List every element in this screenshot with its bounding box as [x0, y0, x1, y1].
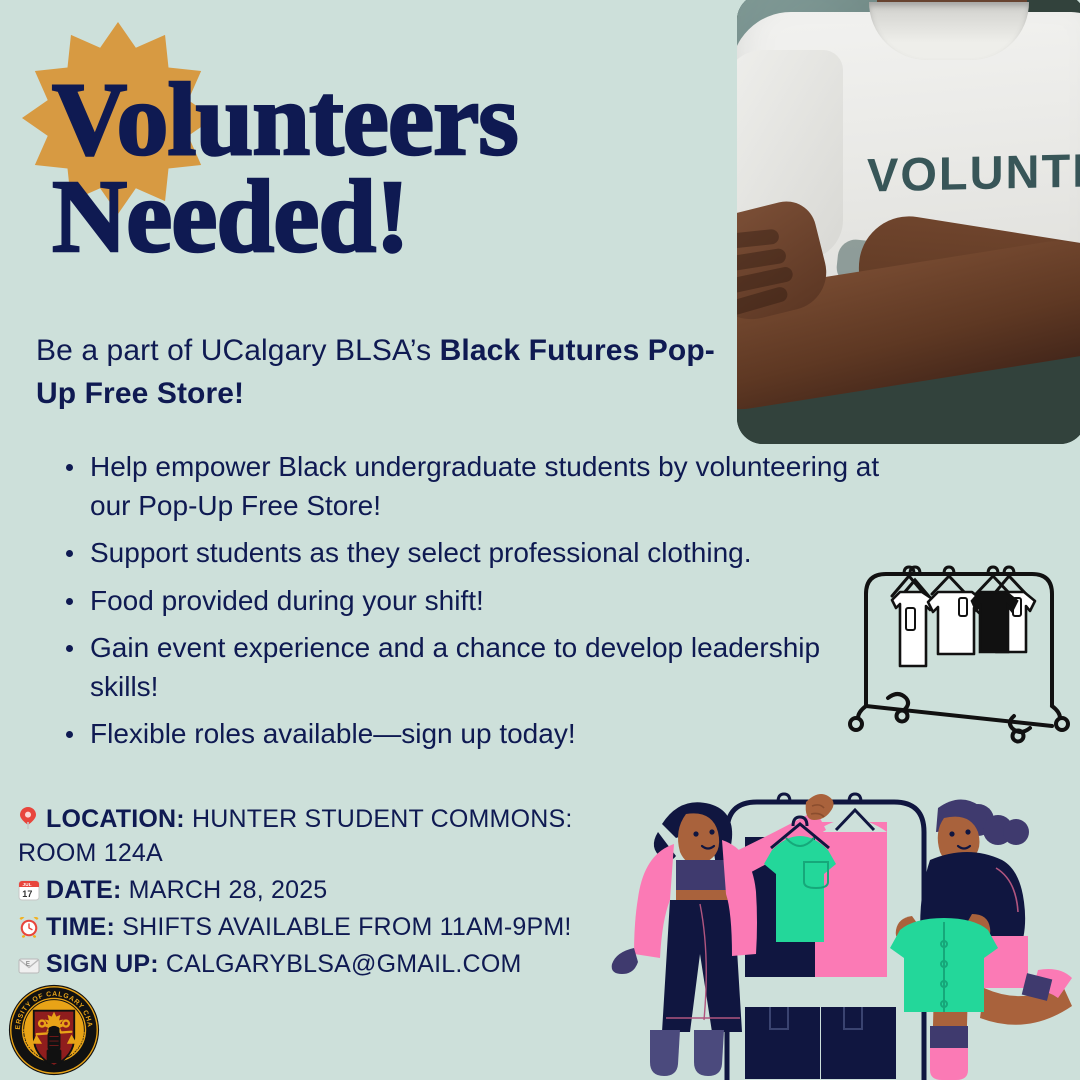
poster-canvas: VOLUNTEER Volunteers Needed! Be a part o…	[0, 0, 1080, 1080]
svg-text:JUL: JUL	[23, 882, 32, 887]
detail-label: DATE:	[46, 876, 122, 904]
location-pin-icon	[18, 806, 44, 830]
clothing-rack-icon	[848, 548, 1070, 748]
list-item: Gain event experience and a chance to de…	[62, 628, 892, 706]
list-item: Help empower Black undergraduate student…	[62, 447, 892, 525]
detail-time: TIME: SHIFTS AVAILABLE FROM 11AM-9PM!	[18, 910, 578, 944]
detail-signup: E SIGN UP: CALGARYBLSA@GMAIL.COM	[18, 947, 578, 981]
alarm-clock-icon	[18, 916, 44, 938]
list-item: Support students as they select professi…	[62, 533, 892, 572]
list-item: Flexible roles available—sign up today!	[62, 714, 892, 753]
subtitle-lead: Be a part of UCalgary BLSA’s	[36, 334, 440, 367]
benefits-list: Help empower Black undergraduate student…	[62, 447, 892, 761]
event-details: LOCATION: HUNTER STUDENT COMMONS: ROOM 1…	[18, 802, 578, 984]
detail-label: SIGN UP:	[46, 950, 159, 978]
list-item: Food provided during your shift!	[62, 581, 892, 620]
detail-label: TIME:	[46, 913, 115, 941]
page-title: Volunteers Needed!	[52, 72, 712, 265]
title-line-2: Needed!	[52, 169, 712, 266]
svg-text:17: 17	[22, 889, 32, 899]
detail-location: LOCATION: HUNTER STUDENT COMMONS: ROOM 1…	[18, 802, 578, 870]
envelope-icon: E	[18, 957, 44, 975]
detail-label: LOCATION:	[46, 805, 185, 833]
photo-shirt-text: VOLUNTEER	[867, 141, 1080, 203]
detail-value: MARCH 28, 2025	[122, 876, 328, 904]
detail-value: SHIFTS AVAILABLE FROM 11AM-9PM!	[115, 913, 572, 941]
detail-date: JUL 17 DATE: MARCH 28, 2025	[18, 873, 578, 907]
pop-up-free-store-illustration	[600, 772, 1080, 1080]
detail-value: CALGARYBLSA@GMAIL.COM	[159, 950, 522, 978]
volunteer-photo: VOLUNTEER	[737, 0, 1080, 444]
blsa-logo: UNIVERSITY OF CALGARY CHAPTER BLACK LAW …	[8, 984, 100, 1076]
svg-text:E: E	[26, 962, 30, 968]
calendar-icon: JUL 17	[18, 879, 44, 901]
subtitle: Be a part of UCalgary BLSA’s Black Futur…	[36, 330, 726, 415]
